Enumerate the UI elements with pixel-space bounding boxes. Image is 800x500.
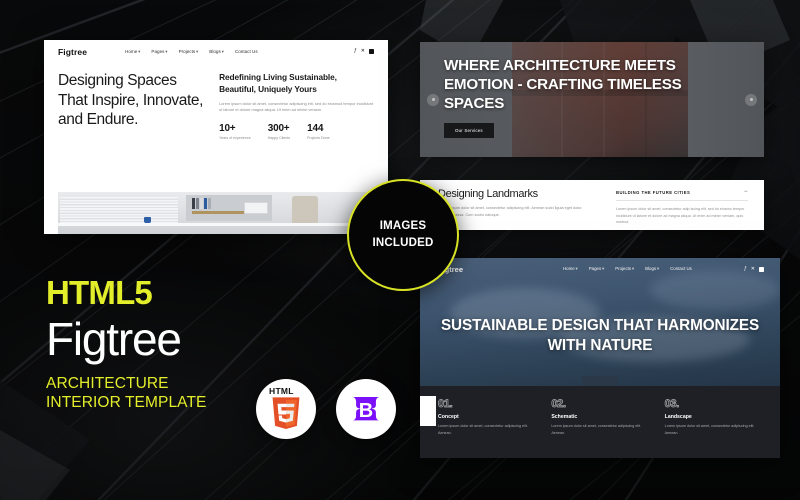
- images-included-badge: IMAGES INCLUDED: [347, 179, 459, 291]
- dark-hero-heading: WHERE ARCHITECTURE MEETS EMOTION - CRAFT…: [444, 56, 724, 113]
- card4-nav-menu[interactable]: Home▾ Pages▾ Projects▾ Blogs▾ Contact Us: [563, 266, 692, 272]
- step-text: Lorem ipsum dolor sit amet, consectetur …: [665, 423, 764, 436]
- html5-logo-badge: HTML: [256, 379, 316, 439]
- badge-line-2: INCLUDED: [372, 235, 433, 252]
- nav-item-projects[interactable]: Projects▾: [179, 49, 199, 55]
- nav-item-blogs[interactable]: Blogs▾: [645, 266, 659, 272]
- chevron-down-icon: ▾: [222, 49, 224, 54]
- step-number: 03.: [665, 398, 764, 410]
- card1-navbar[interactable]: Figtree Home▾ Pages▾ Projects▾ Blogs▾ Co…: [44, 40, 388, 63]
- brand-logo: Figtree: [58, 47, 87, 57]
- card4-social-links[interactable]: ƒ ✕: [744, 267, 764, 272]
- stat-item: 300+ Happy Clients: [268, 123, 290, 140]
- nav-item-pages[interactable]: Pages▾: [151, 49, 167, 55]
- card4-navbar[interactable]: Figtree Home▾ Pages▾ Projects▾ Blogs▾ Co…: [420, 258, 780, 280]
- nav-item-blogs-label: Blogs: [645, 266, 656, 271]
- nav-item-contact-us[interactable]: Contact Us: [235, 49, 258, 55]
- book: [204, 198, 207, 209]
- step-title: Landscape: [665, 414, 764, 420]
- card1-nav-menu[interactable]: Home▾ Pages▾ Projects▾ Blogs▾ Contact Us: [125, 49, 258, 55]
- carousel-prev-icon[interactable]: [427, 94, 439, 106]
- step-text: Lorem ipsum dolor sit amet, consectetur …: [551, 423, 650, 436]
- step-title: Schematic: [551, 414, 650, 420]
- landmarks-left-column: Designing Landmarks Lorem ipsum dolor si…: [438, 188, 588, 219]
- accordion-header[interactable]: BUILDING THE FUTURE CITIES −: [616, 189, 748, 195]
- nav-item-blogs[interactable]: Blogs▾: [209, 49, 224, 55]
- stat-item: 10+ Years of experience: [219, 123, 251, 140]
- nav-item-blogs-label: Blogs: [209, 49, 221, 54]
- chevron-down-icon: ▾: [657, 266, 659, 271]
- stat-number: 10+: [219, 123, 251, 134]
- nav-item-pages-label: Pages: [151, 49, 164, 54]
- stat-number: 300+: [268, 123, 290, 134]
- promo-text-block: HTML5 Figtree ARCHITECTURE INTERIOR TEMP…: [46, 276, 206, 412]
- hero-interior-photo: [58, 192, 374, 234]
- landmarks-accordion[interactable]: BUILDING THE FUTURE CITIES − Lorem ipsum…: [616, 189, 748, 226]
- nav-item-contact-us[interactable]: Contact Us: [670, 266, 692, 272]
- hero-stats: 10+ Years of experience 300+ Happy Clien…: [219, 123, 374, 140]
- nav-item-projects[interactable]: Projects▾: [615, 266, 634, 272]
- linkedin-icon[interactable]: [759, 267, 764, 272]
- screenshot-card-nature-hero[interactable]: Figtree Home▾ Pages▾ Projects▾ Blogs▾ Co…: [420, 258, 780, 458]
- hero-heading: Designing Spaces That Inspire, Innovate,…: [58, 71, 205, 140]
- facebook-icon[interactable]: ƒ: [744, 267, 747, 272]
- book: [196, 198, 199, 209]
- chevron-down-icon: ▾: [632, 266, 634, 271]
- step-text: Lorem ipsum dolor sit amet, consectetur …: [438, 423, 537, 436]
- chevron-down-icon: ▾: [602, 266, 604, 271]
- hero-side-column: Redefining Living Sustainable, Beautiful…: [219, 71, 374, 140]
- bootstrap-icon: B: [346, 392, 386, 426]
- our-services-button[interactable]: Our Services: [444, 123, 494, 138]
- nav-item-home[interactable]: Home▾: [125, 49, 140, 55]
- promo-subtitle-line-2: INTERIOR TEMPLATE: [46, 393, 206, 412]
- html5-shield-icon: [268, 396, 304, 430]
- nav-item-pages[interactable]: Pages▾: [589, 266, 604, 272]
- nature-hero-heading: SUSTAINABLE DESIGN THAT HARMONIZES WITH …: [420, 316, 780, 356]
- book: [208, 198, 211, 209]
- card1-hero-body: Designing Spaces That Inspire, Innovate,…: [44, 63, 388, 140]
- linkedin-icon[interactable]: [369, 49, 374, 54]
- book: [192, 198, 195, 209]
- storage-box: [244, 202, 268, 214]
- carousel-next-icon[interactable]: [745, 94, 757, 106]
- card1-social-links[interactable]: ƒ ✕: [354, 49, 374, 54]
- screenshot-card-landmarks[interactable]: Designing Landmarks Lorem ipsum dolor si…: [420, 180, 764, 230]
- process-steps-panel: 01. Concept Lorem ipsum dolor sit amet, …: [420, 386, 780, 458]
- nav-item-home[interactable]: Home▾: [563, 266, 578, 272]
- stat-item: 144 Projects Done: [307, 123, 330, 140]
- coffee-cup: [144, 217, 151, 223]
- landmarks-paragraph: Lorem ipsum dolor sit amet, consectetur …: [438, 205, 588, 219]
- window-blinds: [60, 197, 178, 225]
- promo-product-name: Figtree: [46, 315, 206, 365]
- chevron-down-icon: ▾: [576, 266, 578, 271]
- chevron-down-icon: ▾: [165, 49, 167, 54]
- nav-item-projects-label: Projects: [615, 266, 631, 271]
- accordion-title: BUILDING THE FUTURE CITIES: [616, 190, 690, 195]
- promo-tech-label: HTML5: [46, 276, 206, 309]
- office-chair: [292, 196, 318, 226]
- x-twitter-icon[interactable]: ✕: [361, 49, 365, 54]
- page-edge-highlight: [420, 396, 436, 426]
- step-item: 01. Concept Lorem ipsum dolor sit amet, …: [438, 398, 537, 436]
- stat-number: 144: [307, 123, 330, 134]
- hero-paragraph: Lorem ipsum dolor sit amet, consectetur …: [219, 101, 374, 115]
- nav-item-home-label: Home: [125, 49, 137, 54]
- promo-subtitle: ARCHITECTURE INTERIOR TEMPLATE: [46, 374, 206, 412]
- step-title: Concept: [438, 414, 537, 420]
- screenshot-card-dark-hero[interactable]: WHERE ARCHITECTURE MEETS EMOTION - CRAFT…: [420, 42, 764, 157]
- html5-wordmark: HTML: [269, 386, 294, 396]
- nav-item-home-label: Home: [563, 266, 575, 271]
- stat-label: Happy Clients: [268, 136, 290, 140]
- accordion-body: Lorem ipsum dolor sit amet, consectetur …: [616, 206, 748, 227]
- x-twitter-icon[interactable]: ✕: [751, 267, 755, 272]
- stat-label: Years of experience: [219, 136, 251, 140]
- accordion-divider: [616, 200, 748, 201]
- screenshot-card-light-hero[interactable]: Figtree Home▾ Pages▾ Projects▾ Blogs▾ Co…: [44, 40, 388, 234]
- svg-text:B: B: [359, 400, 373, 422]
- book: [200, 198, 203, 209]
- step-item: 03. Landscape Lorem ipsum dolor sit amet…: [665, 398, 764, 436]
- step-number: 02.: [551, 398, 650, 410]
- badge-line-1: IMAGES: [380, 218, 427, 235]
- dark-hero-content: WHERE ARCHITECTURE MEETS EMOTION - CRAFT…: [444, 56, 724, 138]
- stat-label: Projects Done: [307, 136, 330, 140]
- desk-surface: [58, 223, 374, 226]
- landmarks-heading: Designing Landmarks: [438, 188, 588, 200]
- promo-subtitle-line-1: ARCHITECTURE: [46, 374, 206, 393]
- bootstrap-logo-badge: B: [336, 379, 396, 439]
- facebook-icon[interactable]: ƒ: [354, 49, 357, 54]
- chevron-down-icon: ▾: [138, 49, 140, 54]
- nav-item-pages-label: Pages: [589, 266, 601, 271]
- nav-item-projects-label: Projects: [179, 49, 196, 54]
- step-number: 01.: [438, 398, 537, 410]
- chevron-down-icon: ▾: [196, 49, 198, 54]
- accordion-minus-icon[interactable]: −: [744, 189, 748, 195]
- step-item: 02. Schematic Lorem ipsum dolor sit amet…: [551, 398, 650, 436]
- hero-subheading: Redefining Living Sustainable, Beautiful…: [219, 72, 374, 96]
